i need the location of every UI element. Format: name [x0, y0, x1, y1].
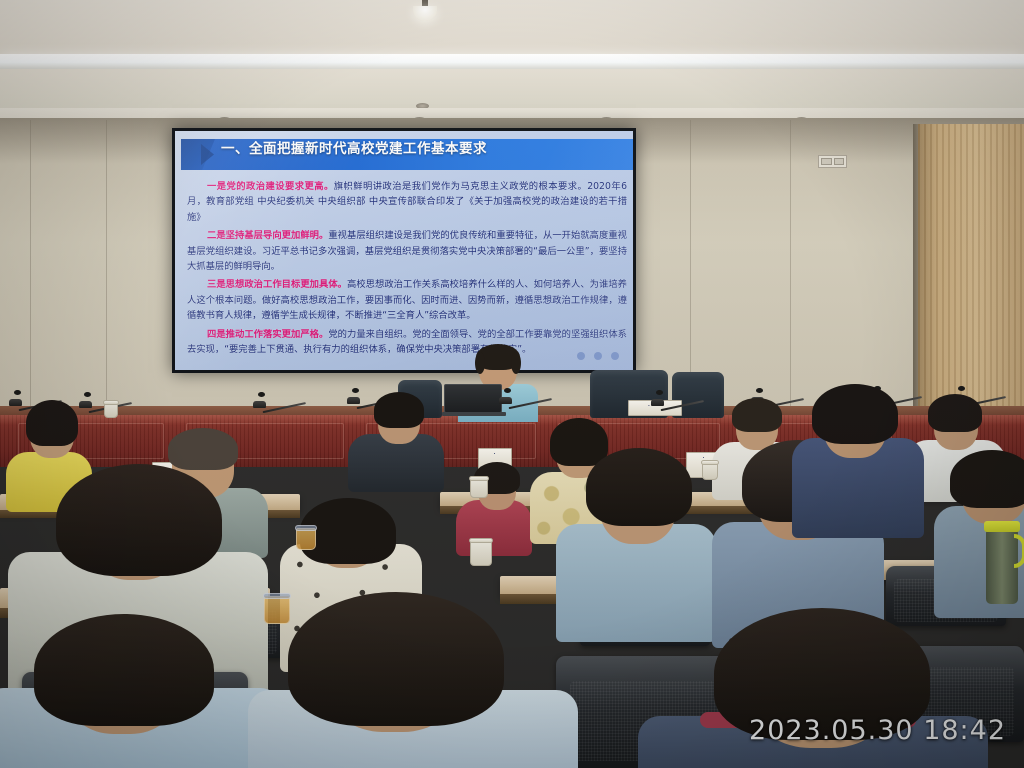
timestamp-overlay: 2023.05.30 18:42 [749, 715, 1006, 746]
meeting-room-scene: 一、全面把握新时代高校党建工作基本要求 一是党的政治建设要求更高。旗帜鲜明讲政治… [0, 0, 1024, 768]
ceiling-upper [0, 0, 1024, 54]
slide-paragraph-4: 四是推动工作落实更加严格。党的力量来自组织。党的全面领导、党的全部工作要靠党的坚… [187, 327, 627, 358]
teacup [104, 402, 118, 418]
teacup [470, 478, 488, 498]
slide-title: 一、全面把握新时代高校党建工作基本要求 [221, 137, 621, 157]
paragraph-lead: 三是思想政治工作目标更加具体。 [207, 279, 347, 290]
tea-glass [296, 528, 316, 550]
led-strip-light [0, 54, 1024, 69]
presenter-laptop [444, 384, 504, 416]
wall-seam [106, 120, 107, 420]
wall-switch-panel[interactable] [818, 155, 847, 168]
slide-paragraph-2: 二是坚持基层导向更加鲜明。重视基层组织建设是我们党的优良传统和重要特征，从一开始… [187, 228, 627, 274]
tea-glass [264, 596, 290, 624]
paragraph-lead: 一是党的政治建设要求更高。 [207, 181, 334, 192]
wood-wall-panel [918, 124, 1024, 424]
slide-decor-dots [577, 352, 619, 360]
projection-screen: 一、全面把握新时代高校党建工作基本要求 一是党的政治建设要求更高。旗帜鲜明讲政治… [172, 128, 636, 373]
slide-surface: 一、全面把握新时代高校党建工作基本要求 一是党的政治建设要求更高。旗帜鲜明讲政治… [175, 131, 633, 370]
paragraph-lead: 四是推动工作落实更加严格。 [207, 329, 328, 340]
teacup [702, 462, 718, 480]
slide-paragraph-1: 一是党的政治建设要求更高。旗帜鲜明讲政治是我们党作为马克思主义政党的根本要求。2… [187, 179, 627, 225]
wall-seam [790, 120, 791, 420]
slide-body: 一是党的政治建设要求更高。旗帜鲜明讲政治是我们党作为马克思主义政党的根本要求。2… [187, 179, 627, 360]
dome-light-icon [413, 0, 437, 20]
paragraph-lead: 二是坚持基层导向更加鲜明。 [207, 230, 328, 241]
wall-seam [30, 120, 31, 420]
teacup [470, 540, 492, 566]
slide-paragraph-3: 三是思想政治工作目标更加具体。高校思想政治工作关系高校培养什么样的人、如何培养人… [187, 277, 627, 323]
water-bottle [986, 530, 1018, 604]
